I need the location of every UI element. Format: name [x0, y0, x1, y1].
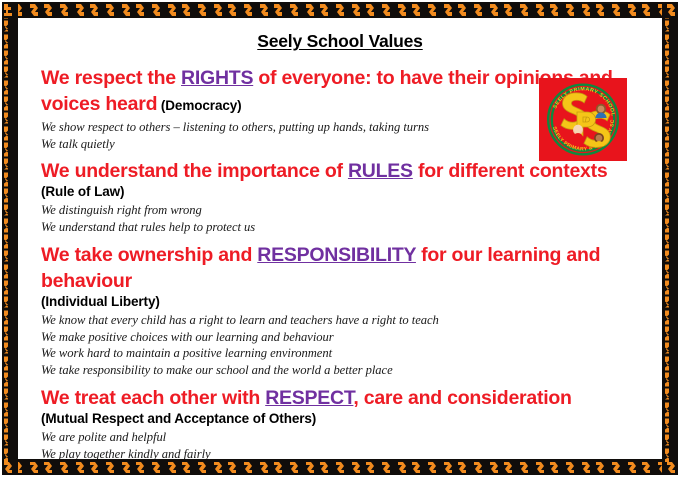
- decorative-border-bottom: [2, 459, 678, 475]
- value-bullet-list: We are polite and helpful We play togeth…: [41, 429, 662, 459]
- list-item: We play together kindly and fairly: [41, 446, 662, 459]
- headline-text-2: , care and consideration: [353, 387, 571, 409]
- headline-text-2: for different contexts: [413, 160, 608, 182]
- page-title: Seely School Values: [18, 31, 662, 52]
- decorative-border-top: [2, 2, 678, 18]
- value-principle-democracy: (Democracy): [157, 98, 241, 113]
- headline-text-1: We respect the: [41, 67, 181, 89]
- decorative-border-left: [2, 2, 18, 475]
- value-headline: We treat each other with RESPECT, care a…: [41, 385, 641, 411]
- value-principle-rule-of-law: (Rule of Law): [41, 184, 662, 200]
- list-item: We take responsibility to make our schoo…: [41, 362, 662, 379]
- decorative-border-right: [662, 2, 678, 475]
- value-keyword-respect: RESPECT: [265, 387, 353, 409]
- list-item: We understand that rules help to protect…: [41, 219, 662, 236]
- value-keyword-rules: RULES: [348, 160, 413, 182]
- headline-text-1: We take ownership and: [41, 244, 257, 266]
- list-item: We make positive choices with our learni…: [41, 329, 662, 346]
- value-keyword-rights: RIGHTS: [181, 67, 253, 89]
- value-principle-mutual-respect: (Mutual Respect and Acceptance of Others…: [41, 411, 662, 427]
- child-figure: [573, 125, 583, 138]
- value-headline: We take ownership and RESPONSIBILITY for…: [41, 242, 641, 294]
- list-item: We work hard to maintain a positive lear…: [41, 345, 662, 362]
- value-block-respect: We treat each other with RESPECT, care a…: [18, 385, 662, 459]
- value-bullet-list: We know that every child has a right to …: [41, 312, 662, 379]
- value-principle-individual-liberty: (Individual Liberty): [41, 294, 662, 310]
- value-headline: We understand the importance of RULES fo…: [41, 158, 641, 184]
- headline-text-1: We understand the importance of: [41, 160, 348, 182]
- list-item: We are polite and helpful: [41, 429, 662, 446]
- child-figure: [596, 104, 607, 118]
- list-item: We know that every child has a right to …: [41, 312, 662, 329]
- value-block-rules: We understand the importance of RULES fo…: [18, 158, 662, 236]
- school-logo: SEELY PRIMARY SCHOOL SEELY PRIMARY & NUR…: [539, 78, 627, 161]
- headline-text-1: We treat each other with: [41, 387, 265, 409]
- document-page: Seely School Values We respect the RIGHT…: [0, 0, 689, 483]
- value-keyword-responsibility: RESPONSIBILITY: [257, 244, 416, 266]
- child-figure: [594, 133, 604, 146]
- value-bullet-list: We distinguish right from wrong We under…: [41, 202, 662, 235]
- list-item: We distinguish right from wrong: [41, 202, 662, 219]
- value-block-responsibility: We take ownership and RESPONSIBILITY for…: [18, 242, 662, 379]
